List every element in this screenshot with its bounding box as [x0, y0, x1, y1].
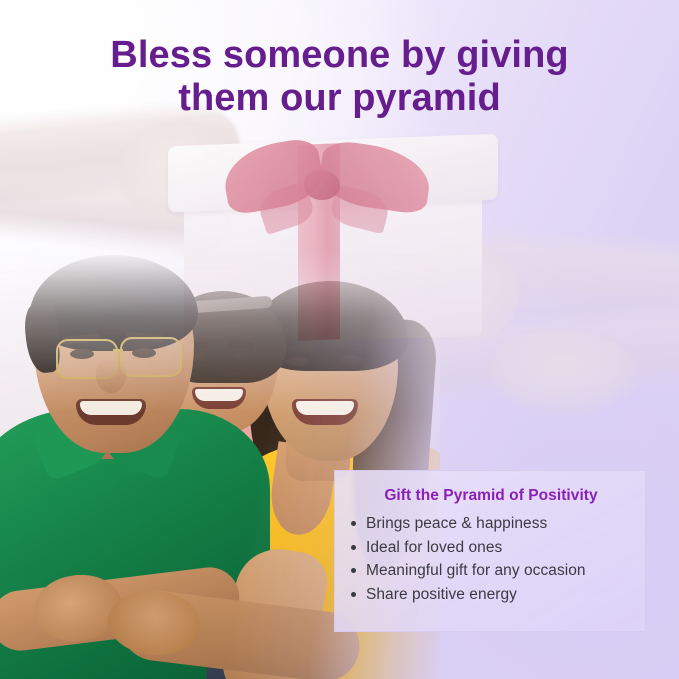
product-lifestyle-poster: Bless someone by giving them our pyramid… — [0, 0, 679, 679]
benefit-item-3: Meaningful gift for any occasion — [349, 559, 633, 583]
benefit-item-3-label: Meaningful gift for any occasion — [366, 562, 586, 579]
bullet-icon — [351, 545, 356, 550]
benefit-item-2: Ideal for loved ones — [349, 536, 633, 560]
benefit-item-4: Share positive energy — [349, 583, 633, 607]
woman-teeth — [296, 401, 354, 415]
gift-bow-tail-left — [255, 181, 317, 235]
giving-hand-left-arm-lower — [0, 155, 233, 263]
headline-line-1: Bless someone by giving — [0, 34, 679, 77]
gift-bow-knot — [304, 170, 340, 200]
benefits-card: Gift the Pyramid of Positivity Brings pe… — [334, 470, 646, 632]
man-teeth — [80, 401, 142, 415]
man-eyeglasses-bridge — [113, 349, 123, 352]
man-eyeglasses-lens-right — [120, 337, 182, 377]
woman-eye-left — [286, 357, 308, 366]
benefit-item-2-label: Ideal for loved ones — [366, 539, 502, 556]
bullet-icon — [351, 568, 356, 573]
headline: Bless someone by giving them our pyramid — [0, 34, 679, 119]
woman-eye-right — [340, 355, 362, 364]
gift-bow-loop-right — [316, 139, 434, 216]
benefit-item-4-label: Share positive energy — [366, 586, 517, 603]
man-nose — [96, 359, 126, 393]
headline-line-2: them our pyramid — [0, 77, 679, 120]
bullet-icon — [351, 592, 356, 597]
benefits-list: Brings peace & happiness Ideal for loved… — [349, 512, 633, 606]
benefits-card-title: Gift the Pyramid of Positivity — [349, 487, 633, 505]
receiving-hand-right-arm-upper — [426, 221, 679, 339]
giving-hand-left-fist — [120, 120, 250, 225]
receiving-hand-right-open-palm — [489, 330, 639, 416]
gift-bow-loop-left — [219, 136, 327, 216]
bullet-icon — [351, 521, 356, 526]
girl-eye-right — [232, 352, 250, 360]
girl-teeth — [195, 389, 243, 401]
benefit-item-1: Brings peace & happiness — [349, 512, 633, 536]
gift-box-lid — [168, 134, 498, 213]
gift-bow-tail-right — [328, 184, 392, 234]
receiving-hand-right-arm-lower — [417, 297, 679, 406]
benefit-item-1-label: Brings peace & happiness — [366, 515, 547, 532]
